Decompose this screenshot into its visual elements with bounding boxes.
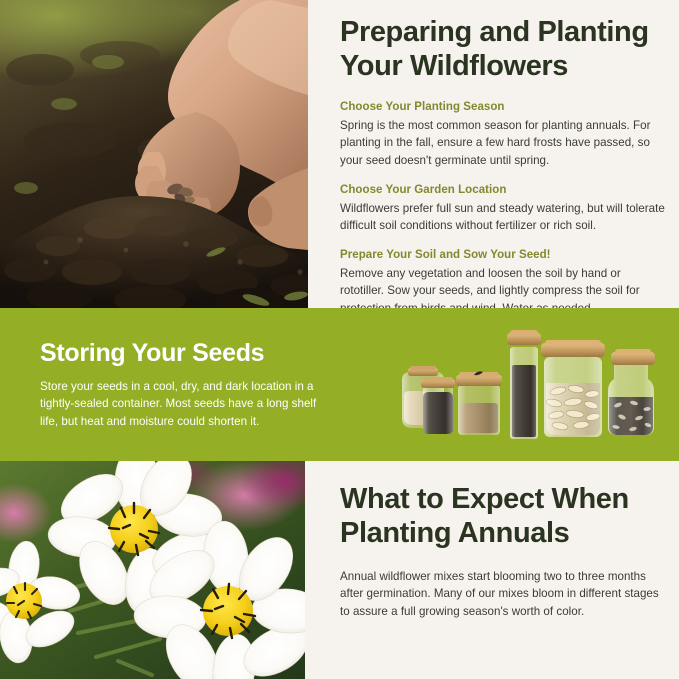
storing-seeds-title: Storing Your Seeds (40, 340, 328, 368)
subsection-heading: Choose Your Planting Season (340, 100, 665, 115)
infographic-page: Preparing and Planting Your Wildflowers … (0, 0, 679, 679)
subsection-body: Spring is the most common season for pla… (340, 117, 665, 170)
section-preparing-and-planting: Preparing and Planting Your Wildflowers … (0, 0, 679, 308)
subsection-body: Wildflowers prefer full sun and steady w… (340, 200, 665, 235)
seed-storage-jars-image (388, 325, 668, 450)
top-text-column: Preparing and Planting Your Wildflowers … (340, 16, 665, 318)
white-cosmos-flowers-image (0, 461, 305, 679)
section-what-to-expect: What to Expect When Planting Annuals Ann… (0, 461, 679, 679)
what-to-expect-body: Annual wildflower mixes start blooming t… (340, 568, 665, 621)
green-text-column: Storing Your Seeds Store your seeds in a… (40, 340, 328, 430)
subsection-garden-location: Choose Your Garden Location Wildflowers … (340, 183, 665, 235)
storing-seeds-body: Store your seeds in a cool, dry, and dar… (40, 378, 328, 431)
subsection-planting-season: Choose Your Planting Season Spring is th… (340, 100, 665, 170)
page-title: Preparing and Planting Your Wildflowers (340, 16, 665, 84)
subsection-heading: Prepare Your Soil and Sow Your Seed! (340, 248, 665, 263)
bottom-text-column: What to Expect When Planting Annuals Ann… (340, 483, 665, 621)
subsection-heading: Choose Your Garden Location (340, 183, 665, 198)
what-to-expect-title: What to Expect When Planting Annuals (340, 483, 665, 551)
hand-sowing-seeds-image (0, 0, 308, 308)
